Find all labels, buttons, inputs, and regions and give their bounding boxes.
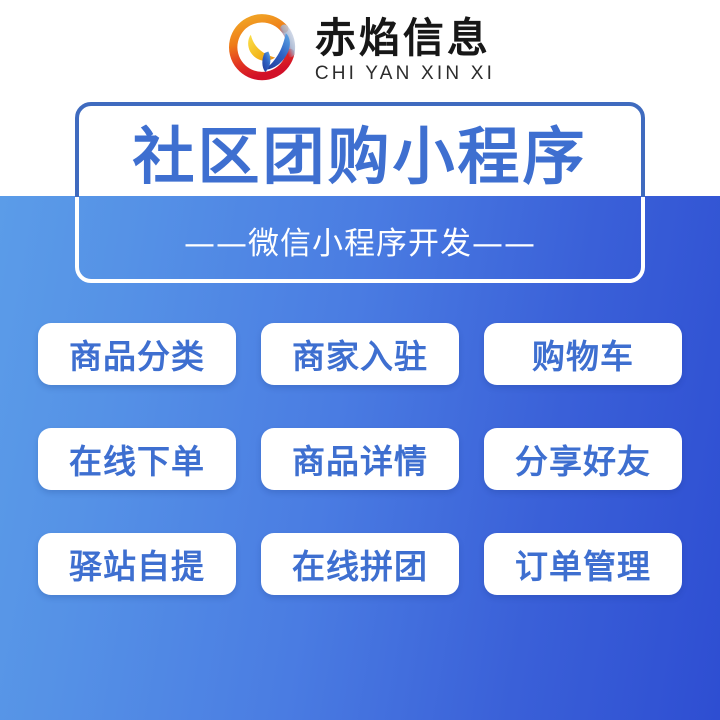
feature-row: 在线下单 商品详情 分享好友 [38,428,682,490]
feature-pill-station-pickup[interactable]: 驿站自提 [38,533,236,595]
brand-name-en: CHI YAN XIN XI [315,64,495,83]
feature-row: 商品分类 商家入驻 购物车 [38,323,682,385]
feature-row: 驿站自提 在线拼团 订单管理 [38,533,682,595]
hero-title: 社区团购小程序 [75,110,645,192]
brand-text: 赤焰信息 CHI YAN XIN XI [315,18,495,83]
brand-header: 赤焰信息 CHI YAN XIN XI [0,0,720,100]
logo-lockup: 赤焰信息 CHI YAN XIN XI [225,12,495,88]
hero-subtitle: ——微信小程序开发—— [75,205,645,275]
feature-pill-product-detail[interactable]: 商品详情 [261,428,459,490]
promo-poster: 赤焰信息 CHI YAN XIN XI 社区团购小程序 ——微信小程序开发—— … [0,0,720,720]
feature-pill-order-management[interactable]: 订单管理 [484,533,682,595]
feature-pill-online-order[interactable]: 在线下单 [38,428,236,490]
feature-pill-online-group-buy[interactable]: 在线拼团 [261,533,459,595]
brand-name-cn: 赤焰信息 [315,18,495,59]
feature-pill-merchant-onboarding[interactable]: 商家入驻 [261,323,459,385]
feature-pill-product-category[interactable]: 商品分类 [38,323,236,385]
feature-pill-grid: 商品分类 商家入驻 购物车 在线下单 商品详情 分享好友 驿站自提 在线拼团 订… [38,323,682,595]
feature-pill-share-with-friends[interactable]: 分享好友 [484,428,682,490]
chiyan-circular-swoosh-logo-icon [225,12,301,88]
feature-pill-shopping-cart[interactable]: 购物车 [484,323,682,385]
